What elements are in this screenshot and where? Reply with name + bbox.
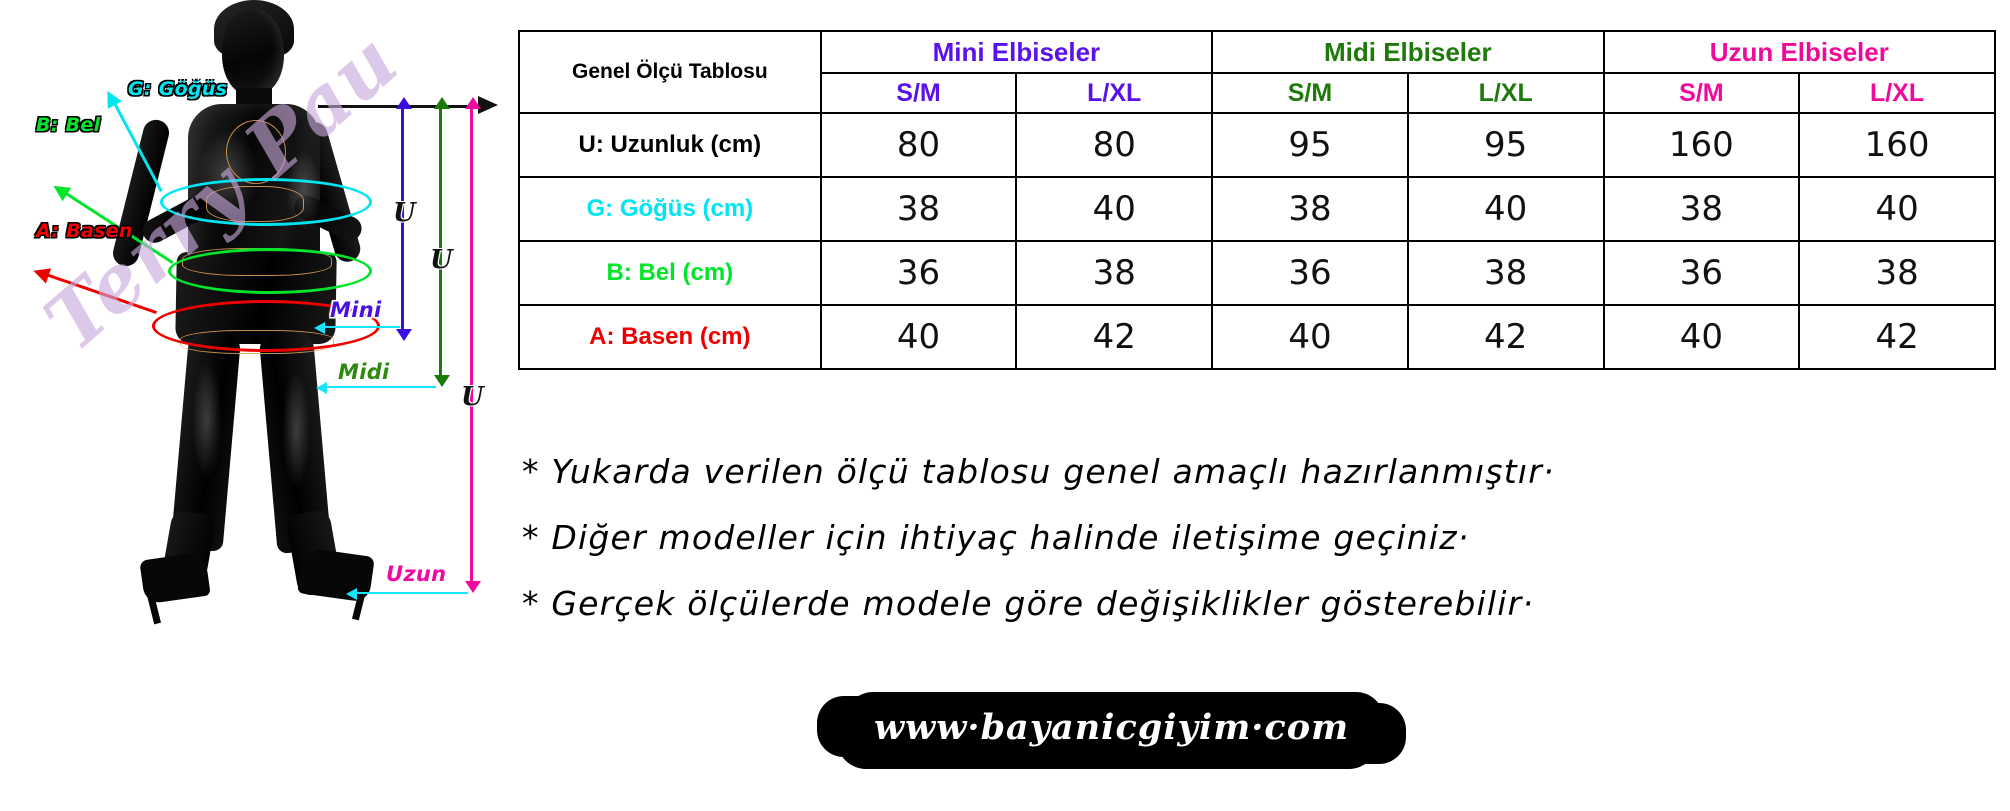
cell-gogus-mini-lxl: 40 xyxy=(1016,177,1212,241)
figure-head xyxy=(222,8,284,96)
figure-label-bel: B: Bel xyxy=(36,114,100,136)
uzun-length-symbol: U xyxy=(461,382,484,412)
cell-basen-uzun-lxl: 42 xyxy=(1799,305,1995,369)
uzun-length-bar xyxy=(470,108,473,582)
size-header-uzun-sm: S/M xyxy=(1604,73,1800,113)
cell-gogus-uzun-lxl: 40 xyxy=(1799,177,1995,241)
cell-bel-uzun-lxl: 38 xyxy=(1799,241,1995,305)
table-row: G: Göğüs (cm) 38 40 38 40 38 40 xyxy=(519,177,1995,241)
figure-label-gogus: G: Göğüs xyxy=(128,78,227,100)
size-header-mini-sm: S/M xyxy=(821,73,1017,113)
cell-uzunluk-uzun-sm: 160 xyxy=(1604,113,1800,177)
footnotes-block: * Yukarda verilen ölçü tablosu genel ama… xyxy=(522,452,1992,650)
midi-hem-leader xyxy=(326,386,436,388)
size-chart-table: Genel Ölçü Tablosu Mini Elbiseler Midi E… xyxy=(518,30,1996,370)
cell-uzunluk-mini-lxl: 80 xyxy=(1016,113,1212,177)
cell-bel-mini-sm: 36 xyxy=(821,241,1017,305)
row-label-bel: B: Bel (cm) xyxy=(519,241,821,305)
cell-bel-mini-lxl: 38 xyxy=(1016,241,1212,305)
midi-length-symbol: U xyxy=(430,245,453,275)
row-label-gogus: G: Göğüs (cm) xyxy=(519,177,821,241)
size-header-midi-sm: S/M xyxy=(1212,73,1408,113)
cell-basen-midi-lxl: 42 xyxy=(1408,305,1604,369)
table-row: U: Uzunluk (cm) 80 80 95 95 160 160 xyxy=(519,113,1995,177)
cell-uzunluk-midi-sm: 95 xyxy=(1212,113,1408,177)
midi-length-bar xyxy=(439,108,442,376)
cell-bel-midi-lxl: 38 xyxy=(1408,241,1604,305)
row-label-uzunluk: U: Uzunluk (cm) xyxy=(519,113,821,177)
cell-basen-mini-sm: 40 xyxy=(821,305,1017,369)
mini-length-symbol: U xyxy=(393,198,416,228)
group-header-midi: Midi Elbiseler xyxy=(1212,31,1603,73)
waist-measure-ellipse xyxy=(168,248,372,294)
cell-basen-uzun-sm: 40 xyxy=(1604,305,1800,369)
bust-measure-ellipse xyxy=(160,178,372,226)
group-header-uzun: Uzun Elbiseler xyxy=(1604,31,1995,73)
footnote-line-3: * Gerçek ölçülerde modele göre değişikli… xyxy=(522,584,1992,623)
uzun-hem-leader xyxy=(356,592,468,594)
cell-gogus-midi-sm: 38 xyxy=(1212,177,1408,241)
figure-left-arm xyxy=(110,117,172,269)
row-label-basen: A: Basen (cm) xyxy=(519,305,821,369)
footnote-line-1: * Yukarda verilen ölçü tablosu genel ama… xyxy=(522,452,1992,491)
website-banner: www·bayanicgiyim·com xyxy=(844,700,1379,759)
content-panel: Genel Ölçü Tablosu Mini Elbiseler Midi E… xyxy=(512,0,2010,811)
size-header-uzun-lxl: L/XL xyxy=(1799,73,1995,113)
table-row: A: Basen (cm) 40 42 40 42 40 42 xyxy=(519,305,1995,369)
figure-label-basen: A: Basen xyxy=(36,220,133,242)
figure-label-uzun: Uzun xyxy=(386,562,446,586)
group-header-mini: Mini Elbiseler xyxy=(821,31,1212,73)
cell-basen-mini-lxl: 42 xyxy=(1016,305,1212,369)
cell-gogus-mini-sm: 38 xyxy=(821,177,1017,241)
table-group-header-row: Genel Ölçü Tablosu Mini Elbiseler Midi E… xyxy=(519,31,1995,73)
figure-label-mini: Mini xyxy=(330,298,381,322)
cell-basen-midi-sm: 40 xyxy=(1212,305,1408,369)
cell-uzunluk-mini-sm: 80 xyxy=(821,113,1017,177)
website-url-text: www·bayanicgiyim·com xyxy=(874,707,1349,748)
footnote-line-2: * Diğer modeller için ihtiyaç halinde il… xyxy=(522,518,1992,557)
cell-bel-uzun-sm: 36 xyxy=(1604,241,1800,305)
cell-gogus-midi-lxl: 40 xyxy=(1408,177,1604,241)
size-header-midi-lxl: L/XL xyxy=(1408,73,1604,113)
size-header-mini-lxl: L/XL xyxy=(1016,73,1212,113)
cell-uzunluk-uzun-lxl: 160 xyxy=(1799,113,1995,177)
table-row: B: Bel (cm) 36 38 36 38 36 38 xyxy=(519,241,1995,305)
figure-illustration-panel: U U U G: Göğüs B: Bel A: Basen Mini Midi… xyxy=(0,0,512,811)
cell-gogus-uzun-sm: 38 xyxy=(1604,177,1800,241)
table-corner-label: Genel Ölçü Tablosu xyxy=(519,31,821,113)
cell-uzunluk-midi-lxl: 95 xyxy=(1408,113,1604,177)
cell-bel-midi-sm: 36 xyxy=(1212,241,1408,305)
shoulder-reference-arrowhead xyxy=(478,96,498,114)
mini-hem-leader xyxy=(324,326,400,328)
figure-label-midi: Midi xyxy=(338,360,390,384)
outfit-outline-accent xyxy=(226,120,286,184)
